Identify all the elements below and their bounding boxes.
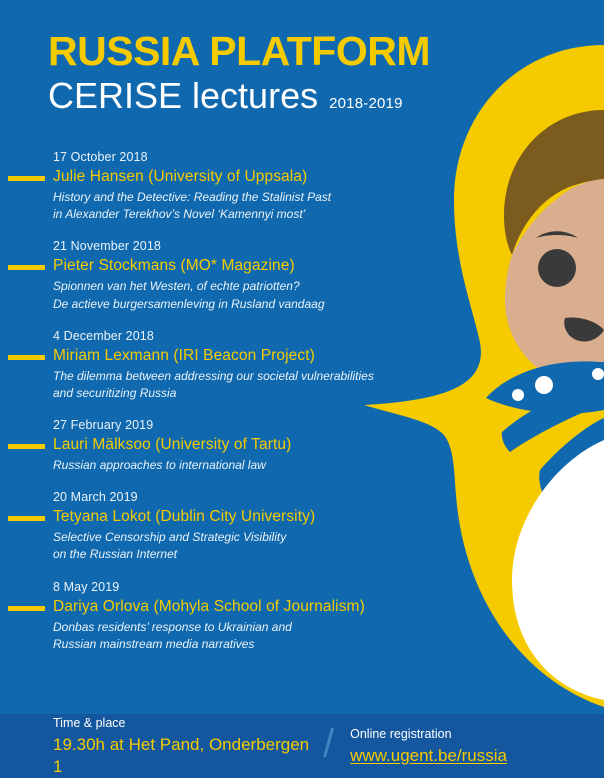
lecture-description: Donbas residents’ response to Ukrainian … bbox=[53, 619, 420, 654]
doll-mouth bbox=[564, 318, 604, 342]
lecture-speaker-row: Dariya Orlova (Mohyla School of Journali… bbox=[53, 597, 420, 618]
lecture-date: 4 December 2018 bbox=[53, 327, 420, 346]
lecture-speaker-row: Pieter Stockmans (MO* Magazine) bbox=[53, 256, 420, 277]
lecture-description: Russian approaches to international law bbox=[53, 457, 420, 474]
lecture-description-line: History and the Detective: Reading the S… bbox=[53, 189, 420, 206]
lecture-item: 4 December 2018 Miriam Lexmann (IRI Beac… bbox=[0, 327, 420, 402]
lecture-item: 21 November 2018 Pieter Stockmans (MO* M… bbox=[0, 237, 420, 312]
lecture-speaker-row: Tetyana Lokot (Dublin City University) bbox=[53, 507, 420, 528]
subtitle-row: CERISE lectures 2018-2019 bbox=[48, 77, 468, 115]
lecture-description-line: De actieve burgersamenleving in Rusland … bbox=[53, 296, 420, 313]
lecture-speaker: Dariya Orlova (Mohyla School of Journali… bbox=[53, 597, 420, 618]
doll-apron bbox=[512, 440, 604, 700]
lecture-description-line: Russian mainstream media narratives bbox=[53, 636, 420, 653]
lecture-list: 17 October 2018 Julie Hansen (University… bbox=[0, 148, 420, 667]
bullet-rule-icon bbox=[8, 444, 45, 449]
time-and-place-value: 19.30h at Het Pand, Onderbergen 1 bbox=[53, 734, 323, 778]
lecture-date: 21 November 2018 bbox=[53, 237, 420, 256]
lecture-speaker-row: Miriam Lexmann (IRI Beacon Project) bbox=[53, 346, 420, 367]
lecture-description-line: Russian approaches to international law bbox=[53, 457, 420, 474]
bullet-rule-icon bbox=[8, 516, 45, 521]
academic-year-label: 2018-2019 bbox=[329, 95, 403, 112]
lecture-date: 8 May 2019 bbox=[53, 578, 420, 597]
footer-separator-icon: / bbox=[323, 724, 334, 764]
lecture-item: 27 February 2019 Lauri Mälksoo (Universi… bbox=[0, 416, 420, 474]
poster: RUSSIA PLATFORM CERISE lectures 2018-201… bbox=[0, 0, 604, 778]
lecture-date: 20 March 2019 bbox=[53, 488, 420, 507]
lecture-description: Selective Censorship and Strategic Visib… bbox=[53, 529, 420, 564]
lecture-description-line: The dilemma between addressing our socie… bbox=[53, 368, 420, 385]
lecture-description-line: in Alexander Terekhov’s Novel ‘Kamennyi … bbox=[53, 206, 420, 223]
page-title: RUSSIA PLATFORM bbox=[48, 30, 468, 73]
registration-label: Online registration bbox=[350, 725, 507, 744]
bullet-rule-icon bbox=[8, 265, 45, 270]
lecture-description: History and the Detective: Reading the S… bbox=[53, 189, 420, 224]
doll-hair bbox=[504, 110, 604, 255]
lecture-description-line: Selective Censorship and Strategic Visib… bbox=[53, 529, 420, 546]
lecture-description-line: on the Russian Internet bbox=[53, 546, 420, 563]
bullet-rule-icon bbox=[8, 176, 45, 181]
time-and-place-label: Time & place bbox=[53, 714, 323, 733]
page-subtitle: CERISE lectures bbox=[48, 77, 318, 115]
registration-url-link[interactable]: www.ugent.be/russia bbox=[350, 745, 507, 767]
lecture-speaker: Miriam Lexmann (IRI Beacon Project) bbox=[53, 346, 420, 367]
doll-eyebrow bbox=[536, 231, 578, 238]
lecture-item: 20 March 2019 Tetyana Lokot (Dublin City… bbox=[0, 488, 420, 563]
lecture-speaker: Lauri Mälksoo (University of Tartu) bbox=[53, 435, 420, 456]
lecture-description: The dilemma between addressing our socie… bbox=[53, 368, 420, 403]
lecture-item: 17 October 2018 Julie Hansen (University… bbox=[0, 148, 420, 223]
lecture-speaker: Pieter Stockmans (MO* Magazine) bbox=[53, 256, 420, 277]
lecture-description-line: Donbas residents’ response to Ukrainian … bbox=[53, 619, 420, 636]
lecture-date: 27 February 2019 bbox=[53, 416, 420, 435]
lecture-description-line: and securitizing Russia bbox=[53, 385, 420, 402]
lecture-description-line: Spionnen van het Westen, of echte patrio… bbox=[53, 278, 420, 295]
lecture-speaker: Julie Hansen (University of Uppsala) bbox=[53, 167, 420, 188]
lecture-speaker-row: Julie Hansen (University of Uppsala) bbox=[53, 167, 420, 188]
poster-header: RUSSIA PLATFORM CERISE lectures 2018-201… bbox=[48, 30, 468, 115]
lecture-speaker-row: Lauri Mälksoo (University of Tartu) bbox=[53, 435, 420, 456]
lecture-date: 17 October 2018 bbox=[53, 148, 420, 167]
lecture-description: Spionnen van het Westen, of echte patrio… bbox=[53, 278, 420, 313]
bullet-rule-icon bbox=[8, 355, 45, 360]
poster-footer: Time & place 19.30h at Het Pand, Onderbe… bbox=[0, 714, 604, 778]
bullet-rule-icon bbox=[8, 606, 45, 611]
doll-petal-decoration bbox=[486, 361, 604, 496]
registration-block: Online registration www.ugent.be/russia bbox=[350, 725, 507, 767]
doll-face bbox=[505, 179, 604, 392]
doll-eye bbox=[538, 249, 576, 287]
time-and-place-block: Time & place 19.30h at Het Pand, Onderbe… bbox=[53, 714, 323, 778]
lecture-item: 8 May 2019 Dariya Orlova (Mohyla School … bbox=[0, 578, 420, 653]
lecture-speaker: Tetyana Lokot (Dublin City University) bbox=[53, 507, 420, 528]
